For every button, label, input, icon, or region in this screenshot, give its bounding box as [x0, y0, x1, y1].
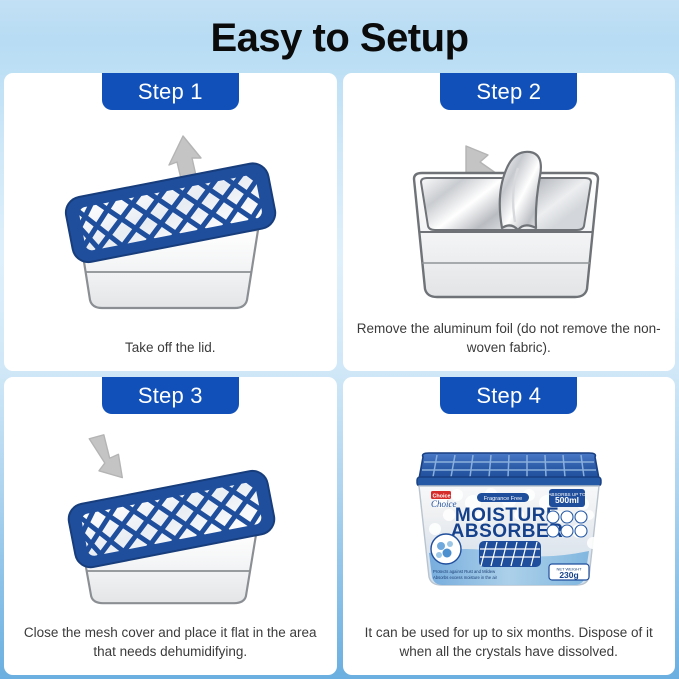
step-badge-4: Step 4 — [440, 377, 577, 414]
step-caption-4: It can be used for up to six months. Dis… — [356, 623, 662, 675]
feature-line-2: Absorbs excess moisture in the air — [433, 575, 498, 580]
product-mesh-lid — [417, 453, 601, 486]
product-body: Choice Choice Fragrance Free MOISTURE AB… — [419, 486, 599, 585]
peel-foil-icon — [384, 122, 634, 307]
step-card-1: Step 1 — [4, 73, 337, 371]
step-badge-1: Step 1 — [102, 73, 239, 110]
brand-name: Choice — [431, 499, 457, 509]
weight-badge: NET WEIGHT 230g — [549, 564, 589, 580]
feature-line-1: Protects against Rust and Mildew — [433, 569, 496, 574]
steps-grid: Step 1 — [4, 73, 675, 675]
product-name-line2: ABSORBER — [450, 521, 563, 542]
product-package-icon: Choice Choice Fragrance Free MOISTURE AB… — [411, 449, 607, 589]
infographic-page: Easy to Setup Step 1 — [0, 0, 679, 679]
step-card-2: Step 2 — [343, 73, 676, 371]
foil-peel-flap — [500, 152, 541, 230]
step-illustration-4: Choice Choice Fragrance Free MOISTURE AB… — [343, 414, 676, 623]
mesh-lid-lifted-icon — [45, 132, 295, 317]
capacity-badge-value: 500ml — [555, 495, 579, 505]
step-illustration-3 — [4, 414, 337, 623]
step-card-4: Step 4 — [343, 377, 676, 675]
step-badge-3: Step 3 — [102, 377, 239, 414]
step-card-3: Step 3 — [4, 377, 337, 675]
down-arrow-icon — [89, 434, 122, 477]
capacity-badge: ABSORBS UP TO 500ml — [548, 489, 586, 507]
step-caption-1: Take off the lid. — [17, 338, 323, 371]
mesh-lid-closing-icon — [45, 429, 295, 609]
step-badge-2: Step 2 — [440, 73, 577, 110]
page-title: Easy to Setup — [0, 12, 679, 64]
step-caption-3: Close the mesh cover and place it flat i… — [17, 623, 323, 675]
tagline-pill: Fragrance Free — [477, 493, 529, 502]
step-illustration-1 — [4, 110, 337, 338]
feature-text-lines: Protects against Rust and Mildew Absorbs… — [433, 569, 498, 580]
label-mesh-illustration — [479, 541, 541, 567]
tagline-text: Fragrance Free — [483, 495, 522, 501]
step-caption-2: Remove the aluminum foil (do not remove … — [356, 319, 662, 371]
weight-badge-value: 230g — [559, 570, 578, 580]
step-illustration-2 — [343, 110, 676, 319]
crystal-emblem — [431, 534, 461, 564]
